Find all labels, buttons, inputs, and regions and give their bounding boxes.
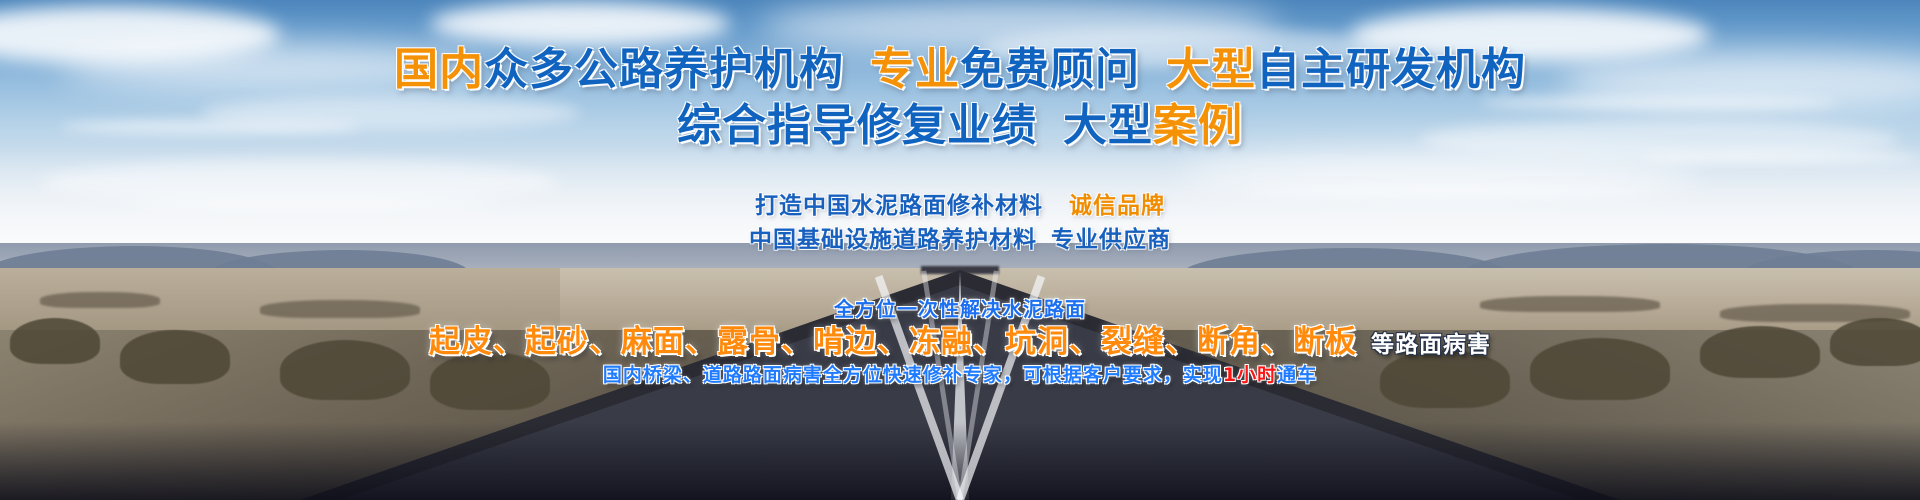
subhead-line-2: 中国基础设施道路养护材料专业供应商 [0,226,1920,255]
headline2-seg-primary-2: 大型 [1063,100,1153,151]
headline-seg-accent-1: 国内 [394,44,484,95]
headline2-seg-primary-1: 综合指导修复业绩 [677,100,1037,151]
subhead-line-1: 打造中国水泥路面修补材料诚信品牌 [0,192,1920,221]
headline-seg-primary-1: 众多公路养护机构 [484,44,844,95]
headline-seg-primary-2: 免费顾问 [960,44,1140,95]
subhead-1-main: 打造中国水泥路面修补材料 [755,193,1043,219]
subhead-1-accent: 诚信品牌 [1069,193,1165,219]
defect-list-tail: 等路面病害 [1371,332,1491,358]
headline-line-1: 国内众多公路养护机构专业免费顾问大型自主研发机构 [0,48,1920,92]
headline-seg-accent-3: 大型 [1166,44,1256,95]
promise-line: 国内桥梁、道路路面病害全方位快速修补专家，可根据客户要求，实现1小时通车 [0,360,1920,387]
headline-line-2: 综合指导修复业绩大型案例 [0,104,1920,148]
promise-after-text: 通车 [1277,364,1317,386]
cloud [430,2,730,46]
promo-banner: 国内众多公路养护机构专业免费顾问大型自主研发机构 综合指导修复业绩大型案例 打造… [0,0,1920,500]
defect-list-text: 起皮、起砂、麻面、露骨、啃边、冻融、坑洞、裂缝、断角、断板 [429,324,1357,360]
defect-list-line: 起皮、起砂、麻面、露骨、啃边、冻融、坑洞、裂缝、断角、断板等路面病害 [0,316,1920,361]
subhead-2-tail: 专业供应商 [1051,227,1171,253]
headline-seg-primary-3: 自主研发机构 [1256,44,1526,95]
headline2-seg-accent-1: 案例 [1153,100,1243,151]
promise-highlight-text: 1小时 [1223,364,1277,386]
promise-before-text: 国内桥梁、道路路面病害全方位快速修补专家，可根据客户要求，实现 [603,364,1223,386]
subhead-2-main: 中国基础设施道路养护材料 [749,227,1037,253]
headline-seg-accent-2: 专业 [870,44,960,95]
